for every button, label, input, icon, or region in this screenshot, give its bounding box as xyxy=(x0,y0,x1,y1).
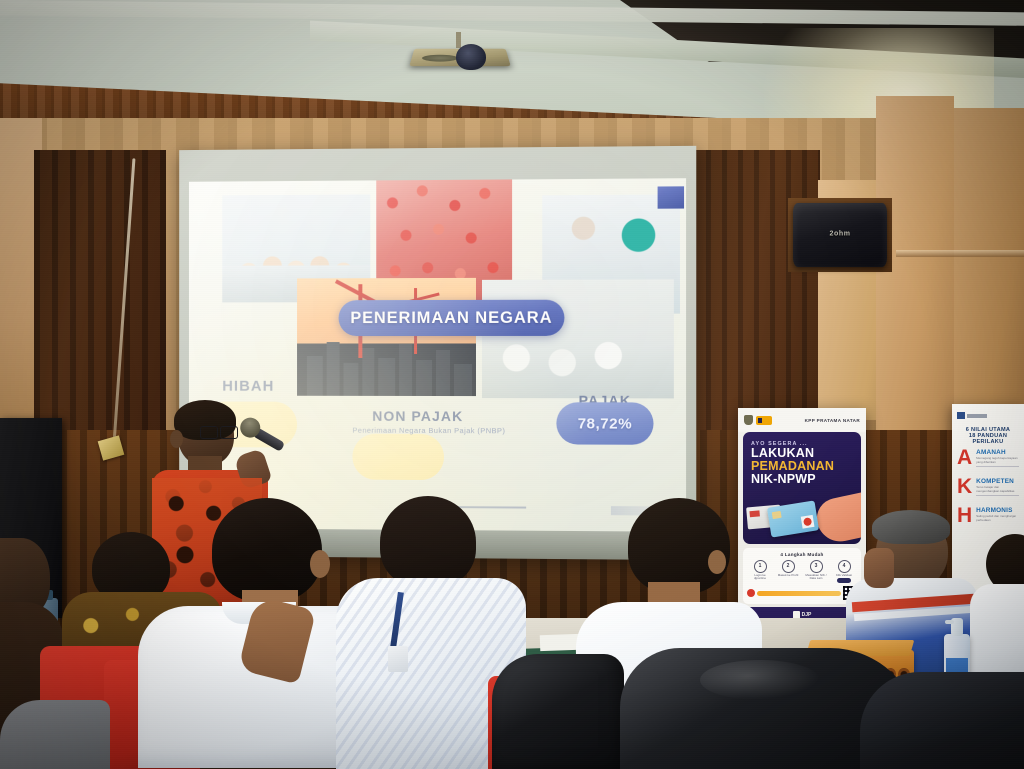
audience-partial-right xyxy=(970,534,1024,684)
banner-step-3-text: Masukkan NIK / Data Lain xyxy=(804,574,828,581)
projector-mount xyxy=(456,32,461,48)
banner2-desc-harmonis: Saling peduli dan menghargai perbedaan xyxy=(976,515,1019,522)
audience-hand-on-chin xyxy=(864,548,894,588)
divider xyxy=(976,495,1019,496)
slide-photo-blue-tab xyxy=(658,186,684,208)
black-office-chair xyxy=(860,672,1024,769)
wall-speaker: 2ohm xyxy=(793,203,887,267)
slide-title: PENERIMAAN NEGARA xyxy=(350,308,552,327)
black-office-chair xyxy=(492,654,624,769)
glasses-icon xyxy=(200,426,238,438)
banner-progress-bar xyxy=(757,591,841,596)
banner2-desc-amanah: Memegang teguh kepercayaan yang diberika… xyxy=(976,457,1019,464)
djp-logo-icon xyxy=(756,416,772,425)
banner2-item-kompeten: K KOMPETEN Terus belajar dan mengembangk… xyxy=(957,478,1019,498)
banner-steps-row: 1 Login ke djponline 2 Masuk ke Profil 3… xyxy=(747,560,857,583)
npwp-card-illustration-icon xyxy=(767,500,819,537)
slide-highlight-nonpajak xyxy=(352,434,444,480)
banner-step-2-text: Masuk ke Profil xyxy=(776,574,800,577)
banner2-word-amanah: AMANAH xyxy=(976,449,1019,456)
banner2-word-kompeten: KOMPETEN xyxy=(976,478,1019,485)
slide-label-non-pajak-subtitle: Penerimaan Negara Bukan Pajak (PNBP) xyxy=(352,426,505,435)
wall-panel-seam xyxy=(896,250,1024,257)
handheld-microphone xyxy=(238,417,285,452)
audience-head xyxy=(380,496,476,588)
audience-white-shirt xyxy=(970,584,1024,684)
audience-head xyxy=(628,498,730,594)
slide-pajak-percent-pill: 78,72% xyxy=(556,402,653,445)
audience-hair xyxy=(872,510,950,544)
sanitizer-nozzle xyxy=(945,620,954,624)
audience-head xyxy=(212,498,322,602)
banner-headline-3: NIK-NPWP xyxy=(751,473,853,486)
banner-steps-title: 4 Langkah Mudah xyxy=(747,552,857,557)
slide-pajak-percent-value: 78,72% xyxy=(578,415,633,432)
slide-title-pill: PENERIMAAN NEGARA xyxy=(339,300,565,336)
divider xyxy=(976,466,1019,467)
banner2-item-amanah: A AMANAH Memegang teguh kepercayaan yang… xyxy=(957,449,1019,469)
audience-partial-foreground xyxy=(0,700,110,769)
banner2-letter-k: K xyxy=(957,478,972,496)
presenter-ear xyxy=(170,430,183,448)
banner2-word-harmonis: HARMONIS xyxy=(976,507,1019,514)
slide-label-non-pajak: NON PAJAK xyxy=(372,408,463,424)
banner2-logo xyxy=(957,412,1019,419)
audience-body xyxy=(0,700,110,769)
speaker-brand-label: 2ohm xyxy=(829,230,850,237)
ministry-logo-text-icon xyxy=(967,414,987,418)
banner-step-2-number: 2 xyxy=(782,560,795,573)
banner2-letter-a: A xyxy=(957,449,972,467)
garuda-emblem-icon xyxy=(744,415,753,425)
banner-org-label: KPP PRATAMA NATAR xyxy=(805,418,860,423)
banner-headline-2: PEMADANAN xyxy=(751,460,853,473)
banner-step-3: 3 Masukkan NIK / Data Lain xyxy=(804,560,828,583)
meeting-room-photo: 2ohm xyxy=(0,0,1024,769)
projector-lens-icon xyxy=(456,44,486,70)
ceiling-projector xyxy=(412,36,508,70)
banner-headline-1: LAKUKAN xyxy=(751,447,853,460)
id-badge xyxy=(388,646,408,672)
banner-step-3-number: 3 xyxy=(810,560,823,573)
banner2-title-line-2: 18 PANDUAN PERILAKU xyxy=(957,433,1019,445)
banner-footer-strip xyxy=(747,586,857,600)
slide-photo-white-uniform-crowd xyxy=(482,279,674,398)
slide-photo-construction xyxy=(297,278,476,396)
audience-ear xyxy=(310,550,330,578)
banner-step-2: 2 Masuk ke Profil xyxy=(776,560,800,583)
audience-ear xyxy=(708,550,726,574)
slide-label-hibah: HIBAH xyxy=(222,378,274,395)
banner-header: KPP PRATAMA NATAR xyxy=(738,408,866,432)
banner2-desc-kompeten: Terus belajar dan mengembangkan kapabili… xyxy=(976,486,1019,493)
ministry-logo-icon xyxy=(957,412,965,419)
wall-speaker-recess: 2ohm xyxy=(788,198,892,272)
